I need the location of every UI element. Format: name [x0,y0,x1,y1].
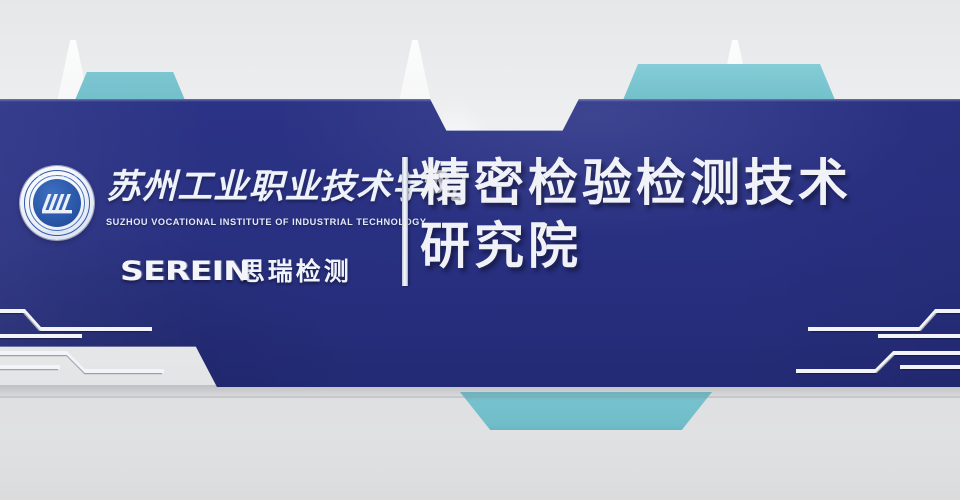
institute-name-cn: 苏州工业职业技术学院 [106,162,402,214]
serein-wordmark: SEREIN [120,256,250,287]
institute-logo-block: 苏 州 工 业 职 业 技 术 学 院 SUZHOU INSTITUTE 苏州工… [18,160,390,290]
serein-name-cn: 思瑞检测 [240,252,352,288]
title-line-2: 研究院 [420,215,950,278]
signage-scene: 苏 州 工 业 职 业 技 术 学 院 SUZHOU INSTITUTE 苏州工… [0,0,960,500]
title-line-1: 精密检验检测技术 [420,152,950,215]
wall-floor-seam [0,396,960,398]
svg-text:SUZHOU INSTITUTE: SUZHOU INSTITUTE [46,231,69,234]
page-title: 精密检验检测技术 研究院 [420,152,950,278]
title-divider-bar [402,157,408,286]
suzhou-institute-seal-icon: 苏 州 工 业 职 业 技 术 学 院 SUZHOU INSTITUTE [20,166,94,240]
serein-logo: SEREIN 思瑞检测 [120,252,352,286]
institute-name-en: SUZHOU VOCATIONAL INSTITUTE OF INDUSTRIA… [106,217,406,227]
svg-text:苏 州 工 业 职 业 技 术 学 院: 苏 州 工 业 职 业 技 术 学 院 [37,174,77,179]
